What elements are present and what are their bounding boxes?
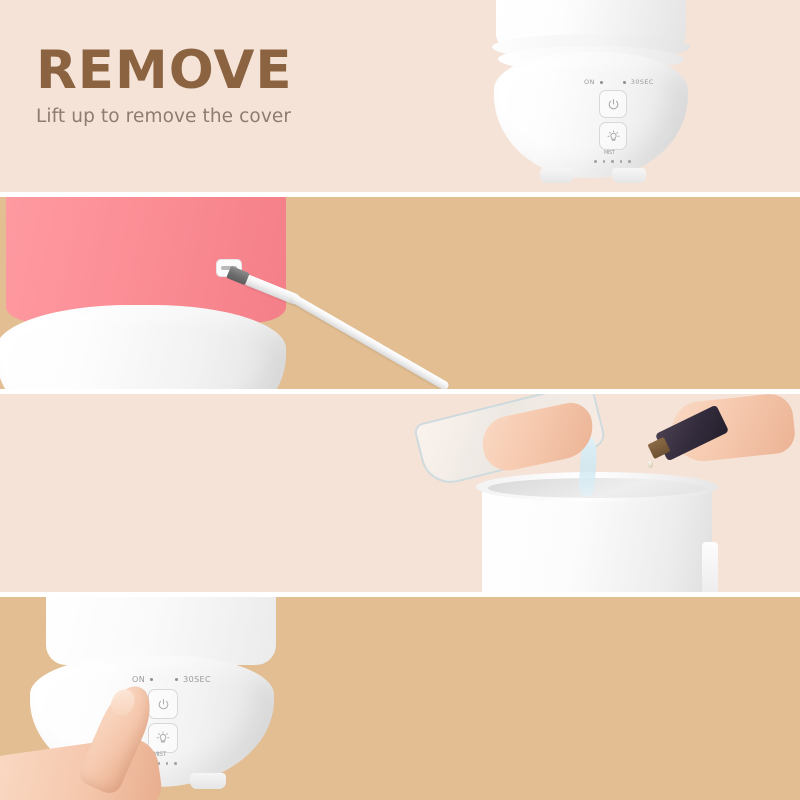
light-bulb-icon	[155, 730, 171, 746]
mist-label: MIST	[604, 150, 614, 156]
power-button[interactable]	[599, 90, 627, 118]
usb-c-cable-extension	[290, 294, 450, 389]
water-tank-inner	[488, 478, 706, 498]
led-dot-timer-operate	[175, 678, 178, 681]
led-dot-on-operate	[150, 678, 153, 681]
control-label-on: ON	[584, 78, 595, 86]
heading-remove: REMOVE	[36, 44, 293, 98]
control-label-on-operate: ON	[132, 675, 145, 684]
product-infographic: ON 30SEC	[0, 0, 800, 800]
led-dot-timer	[623, 81, 626, 84]
led-indicator-row	[594, 160, 631, 163]
water-tank-side-handle	[702, 542, 718, 592]
led-dot-2	[603, 160, 606, 163]
light-button-operate[interactable]	[148, 723, 178, 753]
text-block-remove: REMOVE Lift up to remove the cover	[36, 44, 293, 129]
diffuser-foot-right	[612, 168, 646, 183]
light-button[interactable]	[599, 122, 627, 150]
control-label-timer: 30SEC	[631, 78, 654, 86]
diffuser-foot-left	[540, 168, 574, 183]
led-dot-on	[600, 81, 603, 84]
subtext-remove: Lift up to remove the cover	[36, 105, 293, 129]
led-dot-1	[594, 160, 597, 163]
panel-divider-2	[0, 389, 800, 394]
panel-typec: TYPE-C Built-in 6000mAh rechargeable bat…	[0, 197, 800, 389]
oil-drop	[648, 460, 653, 468]
led-dot-4	[166, 762, 169, 765]
light-bulb-icon	[606, 129, 621, 144]
power-icon	[157, 698, 170, 711]
led-dot-3	[611, 160, 614, 163]
panel-divider-1	[0, 192, 800, 197]
diffuser-white-bowl	[0, 305, 286, 389]
power-button-operate[interactable]	[148, 689, 178, 719]
panel-divider-3	[0, 592, 800, 597]
panel-operate: ON 30SEC	[0, 597, 800, 800]
led-dot-5	[628, 160, 631, 163]
led-dot-4	[620, 160, 623, 163]
power-icon	[607, 98, 620, 111]
led-dot-5	[174, 762, 177, 765]
panel-remove: ON 30SEC	[0, 0, 800, 193]
panel-add: ADD Fill water tank to under the max lin…	[0, 394, 800, 592]
diffuser-base-bowl	[494, 52, 688, 178]
control-label-timer-operate: 30SEC	[183, 675, 211, 684]
diffuser-operate-foot-right	[190, 773, 226, 789]
